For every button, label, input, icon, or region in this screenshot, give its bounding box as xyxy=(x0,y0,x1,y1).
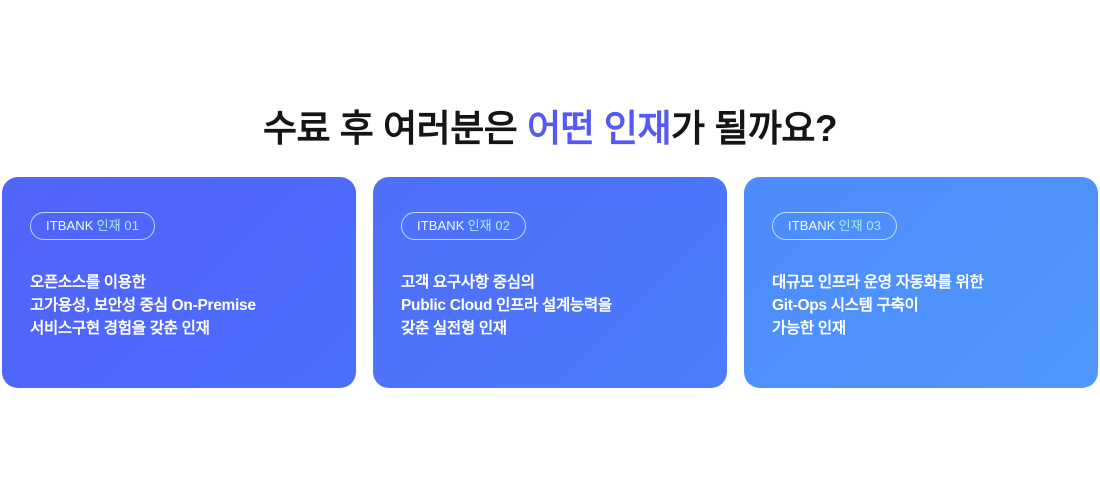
description-line: 고객 요구사항 중심의 xyxy=(401,271,699,294)
description-line: 갖춘 실전형 인재 xyxy=(401,317,699,340)
talent-card-description: 고객 요구사항 중심의 Public Cloud 인프라 설계능력을 갖춘 실전… xyxy=(401,271,699,340)
description-line: 오픈소스를 이용한 xyxy=(30,271,328,294)
description-line: 서비스구현 경험을 갖춘 인재 xyxy=(30,317,328,340)
talent-card-row: ITBANK인재 01 오픈소스를 이용한 고가용성, 보안성 중심 On-Pr… xyxy=(2,177,1098,388)
description-line: Public Cloud 인프라 설계능력을 xyxy=(401,294,699,317)
page-title-prefix: 수료 후 여러분은 xyxy=(263,108,527,149)
talent-card-description: 대규모 인프라 운영 자동화를 위한 Git-Ops 시스템 구축이 가능한 인… xyxy=(772,271,1070,340)
badge-rank-label: 인재 03 xyxy=(839,218,882,233)
badge-brand-label: ITBANK xyxy=(417,218,465,233)
badge-brand-label: ITBANK xyxy=(46,218,94,233)
talent-card-description: 오픈소스를 이용한 고가용성, 보안성 중심 On-Premise 서비스구현 … xyxy=(30,271,328,340)
badge-brand-label: ITBANK xyxy=(788,218,836,233)
talent-card-01[interactable]: ITBANK인재 01 오픈소스를 이용한 고가용성, 보안성 중심 On-Pr… xyxy=(2,177,356,388)
description-line: 고가용성, 보안성 중심 On-Premise xyxy=(30,294,328,317)
status-badge: ITBANK인재 03 xyxy=(772,212,897,240)
status-badge: ITBANK인재 02 xyxy=(401,212,526,240)
status-badge: ITBANK인재 01 xyxy=(30,212,155,240)
promo-section: 수료 후 여러분은 어떤 인재가 될까요? ITBANK인재 01 오픈소스를 … xyxy=(0,0,1100,490)
page-title-suffix: 가 될까요? xyxy=(671,108,837,149)
description-line: 가능한 인재 xyxy=(772,317,1070,340)
description-line: Git-Ops 시스템 구축이 xyxy=(772,294,1070,317)
badge-rank-label: 인재 02 xyxy=(468,218,511,233)
page-title-highlight: 어떤 인재 xyxy=(527,108,671,149)
talent-card-02[interactable]: ITBANK인재 02 고객 요구사항 중심의 Public Cloud 인프라… xyxy=(373,177,727,388)
description-line: 대규모 인프라 운영 자동화를 위한 xyxy=(772,271,1070,294)
talent-card-03[interactable]: ITBANK인재 03 대규모 인프라 운영 자동화를 위한 Git-Ops 시… xyxy=(744,177,1098,388)
page-title: 수료 후 여러분은 어떤 인재가 될까요? xyxy=(0,103,1100,155)
badge-rank-label: 인재 01 xyxy=(97,218,140,233)
